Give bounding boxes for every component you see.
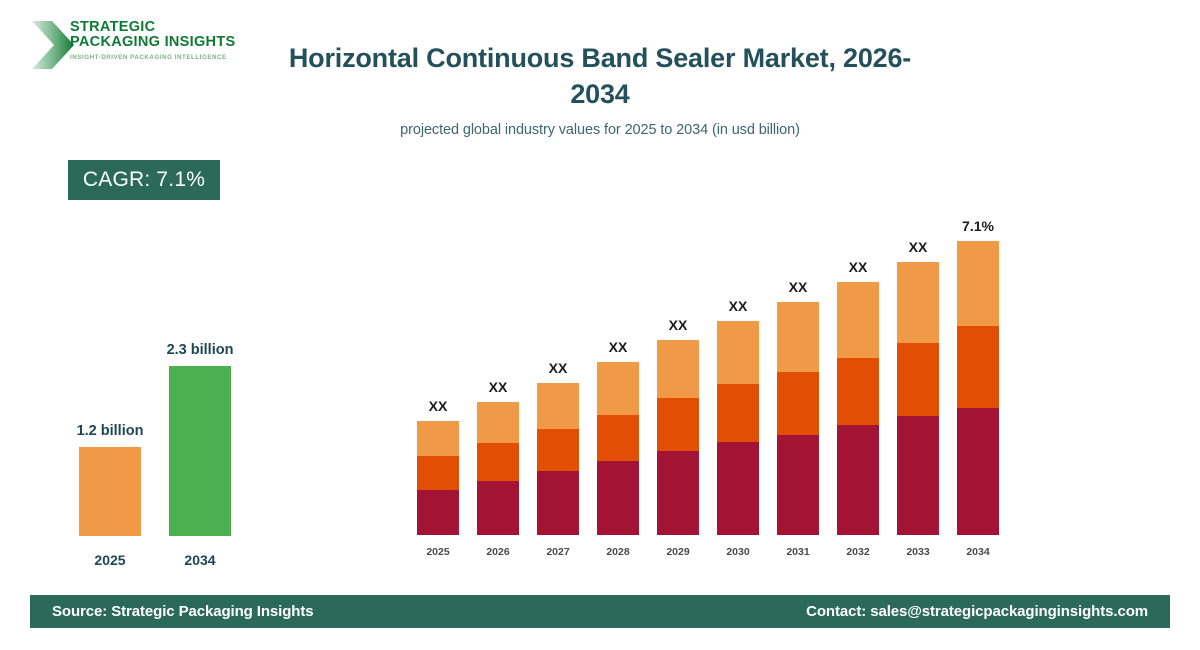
stacked-bar-2033 — [897, 262, 939, 535]
stacked-value-label-2029: XX — [648, 317, 708, 333]
stack-segment-segment-bottom-2032 — [837, 425, 879, 535]
stack-segment-segment-top-2034 — [957, 241, 999, 326]
stacked-bar-2028 — [597, 362, 639, 535]
page-title: Horizontal Continuous Band Sealer Market… — [270, 40, 930, 112]
stacked-column-2025: XX2025 — [408, 200, 468, 560]
stacked-bar-chart: XX2025XX2026XX2027XX2028XX2029XX2030XX20… — [408, 200, 1008, 560]
stack-segment-segment-bottom-2028 — [597, 461, 639, 535]
stacked-year-label-2025: 2025 — [408, 546, 468, 558]
stacked-bar-2025 — [417, 421, 459, 535]
stack-segment-segment-middle-2029 — [657, 398, 699, 451]
stack-segment-segment-top-2030 — [717, 321, 759, 384]
comparison-column-2025: 1.2 billion2025 — [65, 300, 155, 570]
cagr-badge: CAGR: 7.1% — [68, 160, 220, 200]
stack-segment-segment-bottom-2026 — [477, 481, 519, 535]
stack-segment-segment-bottom-2029 — [657, 451, 699, 535]
stacked-year-label-2030: 2030 — [708, 546, 768, 558]
stack-segment-segment-bottom-2030 — [717, 442, 759, 535]
footer-contact-text: Contact: sales@strategicpackaginginsight… — [806, 603, 1148, 620]
stacked-bar-2034 — [957, 241, 999, 535]
stacked-year-label-2029: 2029 — [648, 546, 708, 558]
stacked-bar-2031 — [777, 302, 819, 535]
stacked-bar-2027 — [537, 383, 579, 535]
stacked-value-label-2025: XX — [408, 398, 468, 414]
stacked-value-label-2032: XX — [828, 259, 888, 275]
stack-segment-segment-middle-2027 — [537, 429, 579, 471]
stack-segment-segment-top-2032 — [837, 282, 879, 358]
stack-segment-segment-middle-2032 — [837, 358, 879, 425]
stack-segment-segment-bottom-2033 — [897, 416, 939, 535]
stacked-bar-2032 — [837, 282, 879, 535]
stack-segment-segment-middle-2028 — [597, 415, 639, 461]
stack-segment-segment-top-2029 — [657, 340, 699, 398]
page-subtitle: projected global industry values for 202… — [270, 122, 930, 138]
stacked-bar-2026 — [477, 402, 519, 535]
brand-logo: STRATEGIC PACKAGING INSIGHTS INSIGHT-DRI… — [30, 14, 270, 78]
stacked-value-label-2028: XX — [588, 339, 648, 355]
stack-segment-segment-middle-2033 — [897, 343, 939, 416]
stacked-year-label-2028: 2028 — [588, 546, 648, 558]
comparison-year-label-2034: 2034 — [155, 552, 245, 568]
logo-wordmark: STRATEGIC PACKAGING INSIGHTS INSIGHT-DRI… — [70, 20, 270, 61]
stack-segment-segment-bottom-2027 — [537, 471, 579, 535]
stacked-year-label-2031: 2031 — [768, 546, 828, 558]
stack-segment-segment-top-2033 — [897, 262, 939, 343]
stack-segment-segment-top-2026 — [477, 402, 519, 443]
stacked-value-label-2031: XX — [768, 279, 828, 295]
stacked-year-label-2034: 2034 — [948, 546, 1008, 558]
stacked-value-label-2034: 7.1% — [948, 218, 1008, 234]
stacked-value-label-2030: XX — [708, 298, 768, 314]
stacked-bar-2030 — [717, 321, 759, 535]
stack-segment-segment-middle-2031 — [777, 372, 819, 435]
stacked-year-label-2032: 2032 — [828, 546, 888, 558]
footer-bar: Source: Strategic Packaging Insights Con… — [30, 595, 1170, 628]
stack-segment-segment-top-2028 — [597, 362, 639, 415]
logo-line-2: PACKAGING INSIGHTS — [70, 35, 270, 50]
comparison-value-label-2025: 1.2 billion — [65, 423, 155, 439]
stacked-value-label-2033: XX — [888, 239, 948, 255]
stack-segment-segment-bottom-2025 — [417, 490, 459, 535]
stacked-column-2030: XX2030 — [708, 200, 768, 560]
comparison-bar-2025 — [79, 447, 141, 536]
stack-segment-segment-bottom-2031 — [777, 435, 819, 535]
stack-segment-segment-top-2027 — [537, 383, 579, 429]
stacked-column-2033: XX2033 — [888, 200, 948, 560]
stacked-column-2029: XX2029 — [648, 200, 708, 560]
comparison-column-2034: 2.3 billion2034 — [155, 300, 245, 570]
logo-tagline: INSIGHT-DRIVEN PACKAGING INTELLIGENCE — [70, 54, 270, 61]
stacked-bar-2029 — [657, 340, 699, 535]
stack-segment-segment-middle-2030 — [717, 384, 759, 442]
stacked-value-label-2026: XX — [468, 379, 528, 395]
stack-segment-segment-bottom-2034 — [957, 408, 999, 535]
comparison-bar-2034 — [169, 366, 231, 536]
stack-segment-segment-top-2031 — [777, 302, 819, 372]
logo-line-1: STRATEGIC — [70, 20, 270, 35]
stacked-column-2034: 7.1%2034 — [948, 200, 1008, 560]
comparison-year-label-2025: 2025 — [65, 552, 155, 568]
stacked-column-2032: XX2032 — [828, 200, 888, 560]
stacked-column-2026: XX2026 — [468, 200, 528, 560]
stacked-value-label-2027: XX — [528, 360, 588, 376]
stack-segment-segment-middle-2025 — [417, 456, 459, 490]
stack-segment-segment-middle-2034 — [957, 326, 999, 408]
stacked-year-label-2033: 2033 — [888, 546, 948, 558]
stacked-column-2031: XX2031 — [768, 200, 828, 560]
stack-segment-segment-top-2025 — [417, 421, 459, 456]
stack-segment-segment-middle-2026 — [477, 443, 519, 481]
header-block: Horizontal Continuous Band Sealer Market… — [270, 40, 930, 138]
stacked-year-label-2026: 2026 — [468, 546, 528, 558]
footer-source-text: Source: Strategic Packaging Insights — [52, 603, 313, 620]
comparison-value-label-2034: 2.3 billion — [155, 342, 245, 358]
comparison-bar-chart: 1.2 billion20252.3 billion2034 — [40, 300, 300, 570]
stacked-year-label-2027: 2027 — [528, 546, 588, 558]
stacked-column-2027: XX2027 — [528, 200, 588, 560]
stacked-column-2028: XX2028 — [588, 200, 648, 560]
